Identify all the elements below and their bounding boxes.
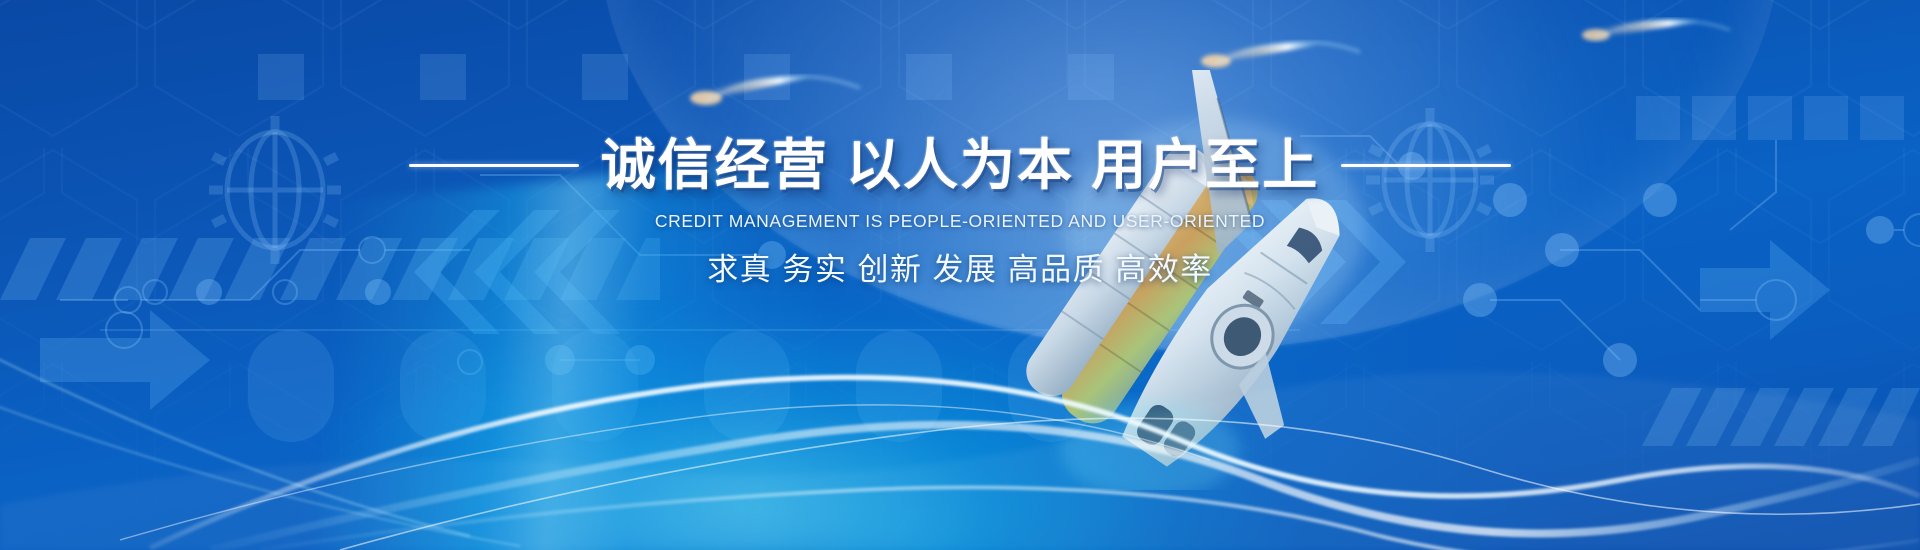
comet-streak: [690, 76, 860, 105]
headline-row: 诚信经营 以人为本 用户至上: [409, 136, 1512, 195]
comet-streak: [1201, 42, 1360, 67]
page-title: 诚信经营 以人为本 用户至上: [601, 136, 1320, 195]
divider-right: [1341, 164, 1511, 167]
flowing-light-waves: [0, 290, 1920, 550]
hero-banner: 诚信经营 以人为本 用户至上 CREDIT MANAGEMENT IS PEOP…: [0, 0, 1920, 550]
banner-text-block: 诚信经营 以人为本 用户至上 CREDIT MANAGEMENT IS PEOP…: [0, 136, 1920, 289]
subtitle-chinese: 求真 务实 创新 发展 高品质 高效率: [707, 244, 1213, 289]
divider-left: [409, 164, 579, 167]
subtitle-english: CREDIT MANAGEMENT IS PEOPLE-ORIENTED AND…: [655, 211, 1265, 232]
comet-streak: [1582, 20, 1730, 41]
